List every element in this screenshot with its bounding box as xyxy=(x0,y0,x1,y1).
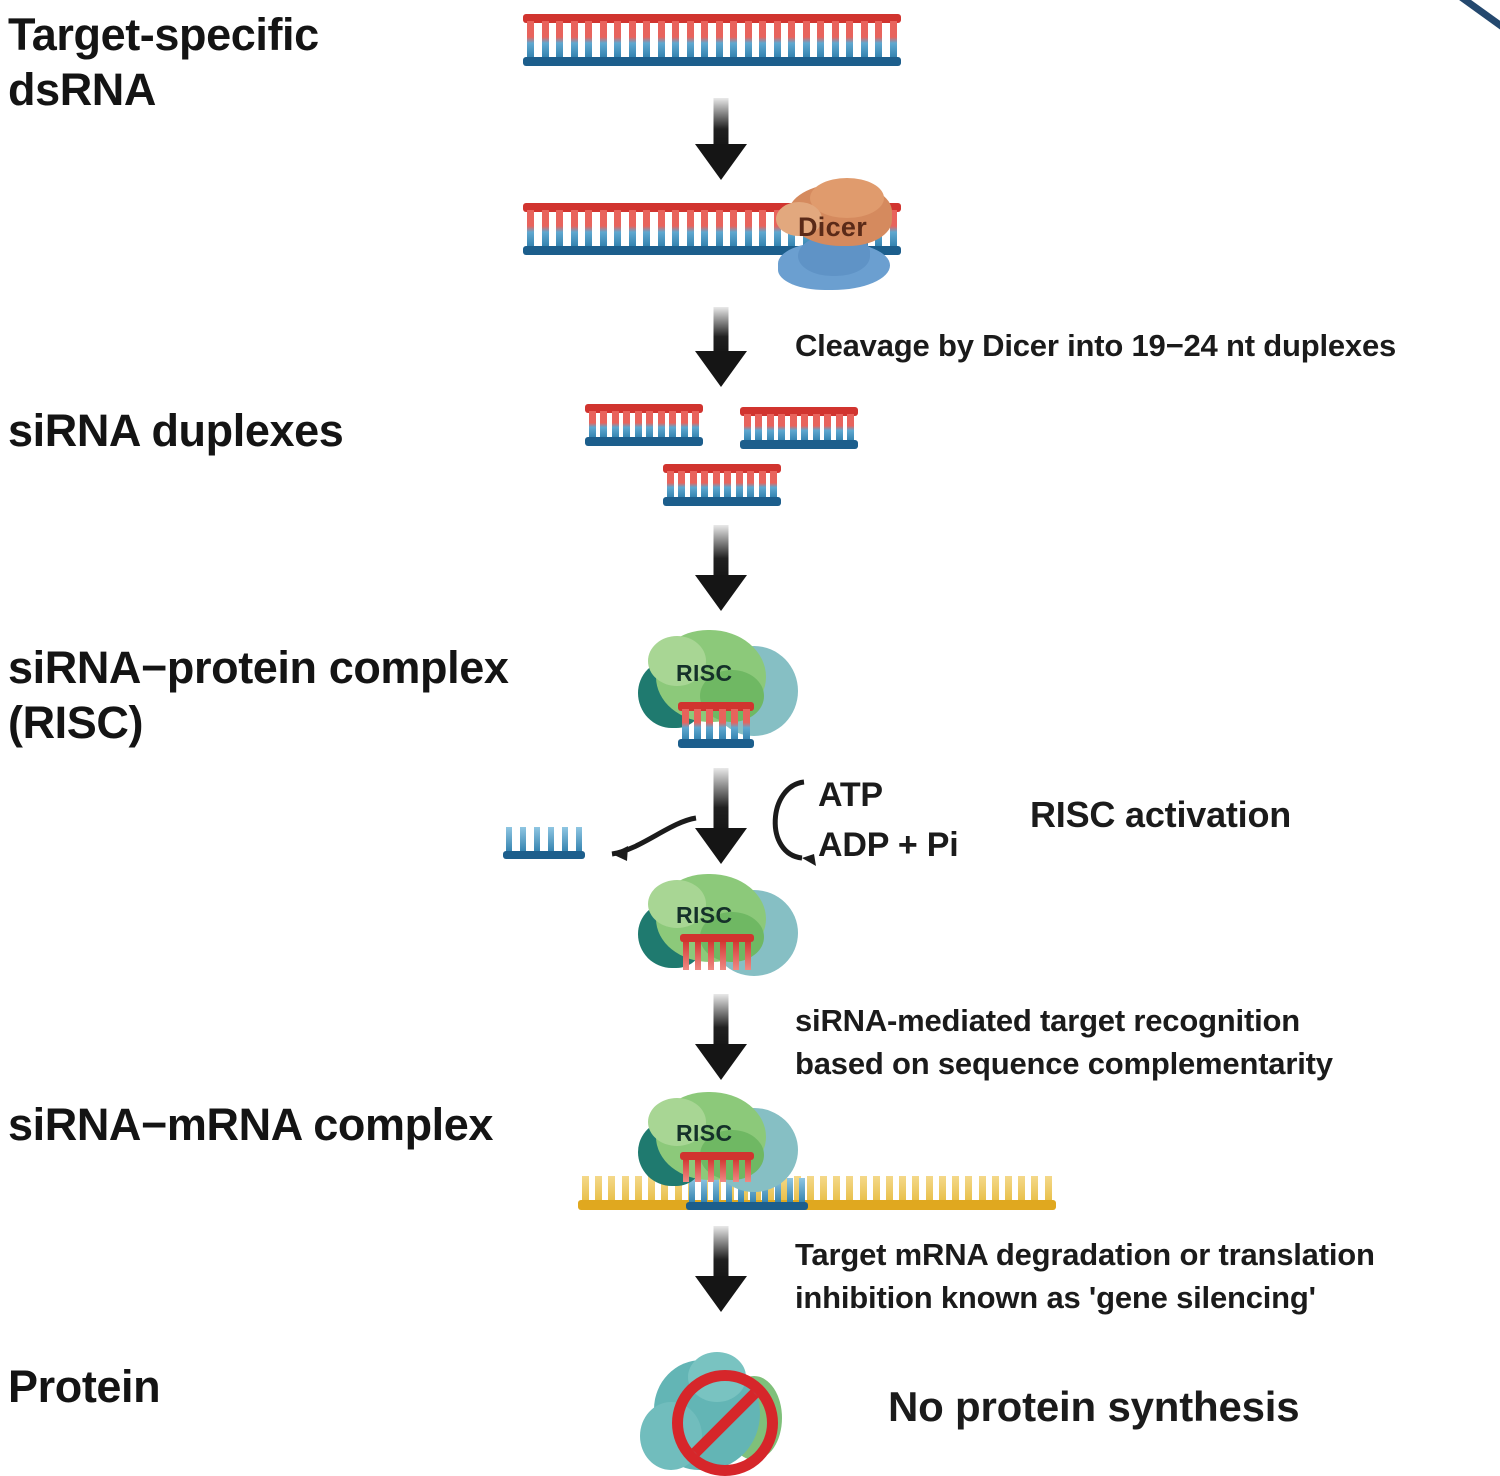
corner-line-decoration xyxy=(1448,0,1500,34)
released-passenger-strand xyxy=(503,827,585,859)
dicer-label: Dicer xyxy=(798,212,867,243)
label-atp: ATP xyxy=(818,772,883,819)
arrow-dicer-to-sirna xyxy=(691,307,751,387)
sirna-duplex-1 xyxy=(585,404,703,446)
sirna-duplex-3 xyxy=(663,464,781,506)
sirna-duplex-2 xyxy=(740,407,858,449)
risc-guide-strand xyxy=(680,934,754,970)
dicer-enzyme: Dicer xyxy=(770,178,900,300)
arrow-sirna-to-risc xyxy=(691,525,751,611)
stage-label-sirna-duplexes: siRNA duplexes xyxy=(8,404,343,459)
annotation-no-protein-synthesis: No protein synthesis xyxy=(888,1378,1299,1436)
risc-guide-strand-2 xyxy=(680,1152,754,1182)
stage-label-sirna-protein-complex: siRNA−protein complex (RISC) xyxy=(8,641,508,751)
strand-release-arrow xyxy=(596,812,706,866)
dsrna-antisense-backbone xyxy=(523,57,901,66)
protein-blob xyxy=(640,1348,810,1474)
dsrna-base-pairs xyxy=(527,21,897,59)
annotation-risc-activation: RISC activation xyxy=(1030,790,1291,840)
prohibition-bar xyxy=(691,1389,758,1456)
annotation-cleavage: Cleavage by Dicer into 19−24 nt duplexes xyxy=(795,325,1396,368)
risc-label-3: RISC xyxy=(676,1120,733,1147)
label-adp-pi: ADP + Pi xyxy=(818,822,958,869)
risc-complex-on-mrna: RISC xyxy=(638,1092,808,1202)
annotation-target-recognition: siRNA-mediated target recognition based … xyxy=(795,1000,1333,1086)
stage-label-protein: Protein xyxy=(8,1360,160,1415)
risc-label: RISC xyxy=(676,660,733,687)
dsrna-duplex xyxy=(523,14,901,66)
risc-complex-loaded: RISC xyxy=(638,626,808,756)
risc-label-2: RISC xyxy=(676,902,733,929)
arrow-dsrna-to-dicer xyxy=(691,98,751,180)
risc-complex-activated: RISC xyxy=(638,872,808,992)
annotation-gene-silencing: Target mRNA degradation or translation i… xyxy=(795,1234,1375,1320)
arrow-to-target-recognition xyxy=(691,994,751,1080)
stage-label-dsrna: Target-specific dsRNA xyxy=(8,8,319,118)
arrow-to-gene-silencing xyxy=(691,1226,751,1312)
stage-label-sirna-mrna-complex: siRNA−mRNA complex xyxy=(8,1098,493,1153)
rnai-pathway-figure: Target-specific dsRNA siRNA duplexes siR… xyxy=(0,0,1500,1469)
no-synthesis-prohibition-icon xyxy=(672,1370,778,1476)
risc-bound-sirna-duplex xyxy=(678,702,754,748)
